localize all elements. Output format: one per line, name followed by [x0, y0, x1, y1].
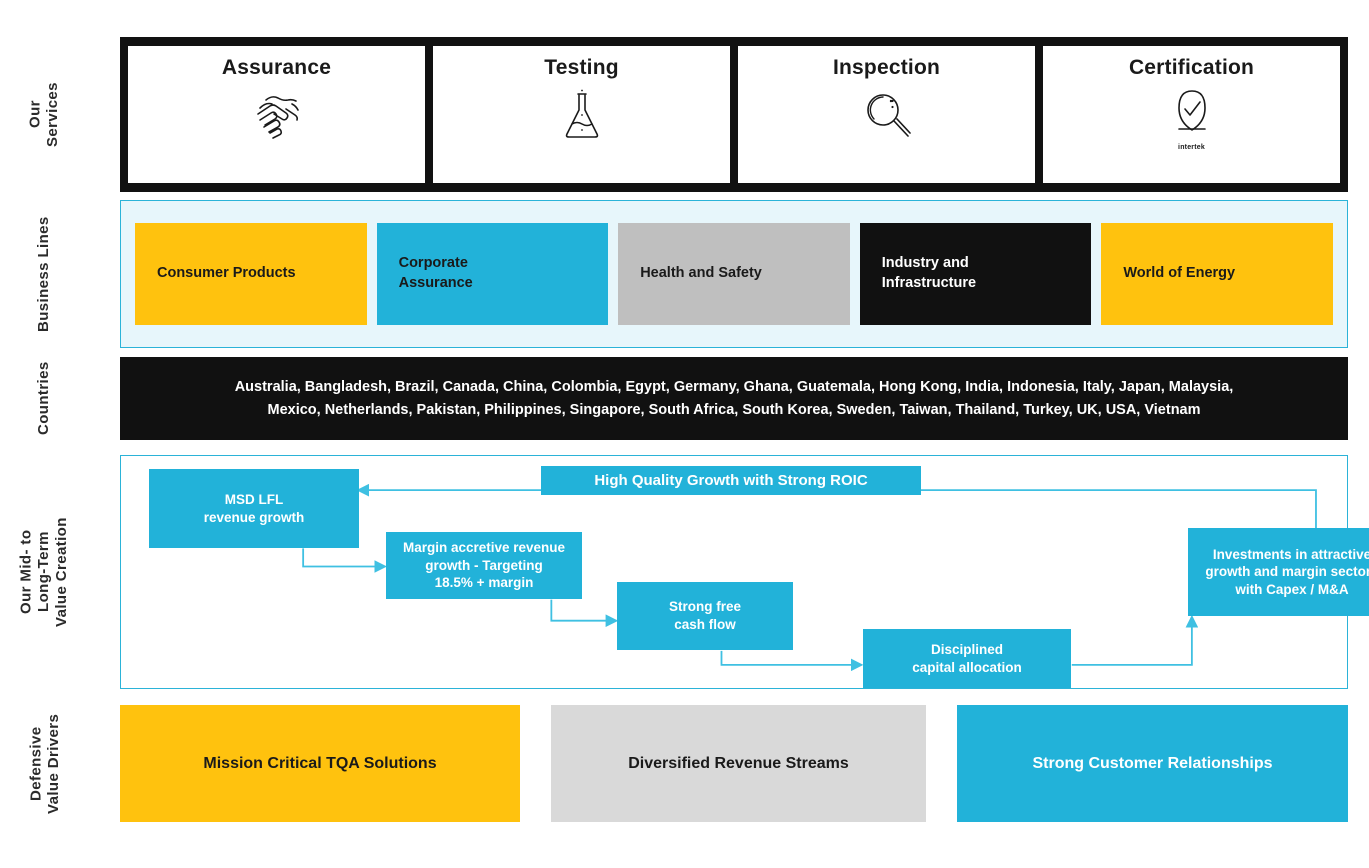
service-card-testing[interactable]: Testing	[433, 46, 730, 183]
flask-icon	[560, 88, 604, 149]
service-card-inspection[interactable]: Inspection	[738, 46, 1035, 183]
row-label-value-creation: Our Mid- to Long-Term Value Creation	[12, 455, 76, 689]
vc-box-investments[interactable]: Investments in attractive growth and mar…	[1188, 528, 1369, 616]
defensive-value-drivers-band: Mission Critical TQA Solutions Diversifi…	[120, 705, 1348, 822]
row-label-defensive-value-drivers: Defensive Value Drivers	[16, 705, 74, 822]
vc-box-msd-lfl[interactable]: MSD LFL revenue growth	[149, 469, 359, 548]
business-line-card[interactable]: Corporate Assurance	[377, 223, 609, 325]
magnifier-icon	[860, 88, 914, 147]
service-card-assurance[interactable]: Assurance	[128, 46, 425, 183]
business-line-card[interactable]: World of Energy	[1101, 223, 1333, 325]
defensive-card[interactable]: Diversified Revenue Streams	[551, 705, 926, 822]
business-lines-band: Consumer Products Corporate Assurance He…	[120, 200, 1348, 348]
service-card-certification[interactable]: Certification intertek	[1043, 46, 1340, 183]
defensive-card[interactable]: Mission Critical TQA Solutions	[120, 705, 520, 822]
row-label-business-lines: Business Lines	[18, 200, 70, 348]
value-creation-banner: High Quality Growth with Strong ROIC	[541, 466, 921, 495]
service-title: Certification	[1129, 56, 1254, 80]
service-title: Inspection	[833, 56, 940, 80]
business-line-card[interactable]: Consumer Products	[135, 223, 367, 325]
countries-line-1: Australia, Bangladesh, Brazil, Canada, C…	[235, 376, 1234, 398]
value-creation-panel: High Quality Growth with Strong ROIC MSD…	[120, 455, 1348, 689]
service-title: Testing	[544, 56, 619, 80]
vc-box-strong-free-cash-flow[interactable]: Strong free cash flow	[617, 582, 793, 650]
business-line-card[interactable]: Industry and Infrastructure	[860, 223, 1092, 325]
vc-box-margin-accretive[interactable]: Margin accretive revenue growth - Target…	[386, 532, 582, 599]
our-services-band: Assurance Testing	[120, 37, 1348, 192]
defensive-card[interactable]: Strong Customer Relationships	[957, 705, 1348, 822]
countries-list: Australia, Bangladesh, Brazil, Canada, C…	[235, 376, 1234, 421]
service-title: Assurance	[222, 56, 331, 80]
countries-band: Australia, Bangladesh, Brazil, Canada, C…	[120, 357, 1348, 440]
intertek-wordmark: intertek	[1178, 144, 1205, 151]
handshake-icon	[246, 88, 308, 145]
row-label-our-services: Our Services	[18, 37, 70, 192]
checkmark-oval-icon	[1168, 88, 1216, 143]
countries-line-2: Mexico, Netherlands, Pakistan, Philippin…	[235, 399, 1234, 421]
row-label-countries: Countries	[18, 357, 70, 440]
business-line-card[interactable]: Health and Safety	[618, 223, 850, 325]
infographic-page: Our Services Business Lines Countries Ou…	[0, 0, 1369, 868]
vc-box-disciplined-capital-allocation[interactable]: Disciplined capital allocation	[863, 629, 1071, 688]
